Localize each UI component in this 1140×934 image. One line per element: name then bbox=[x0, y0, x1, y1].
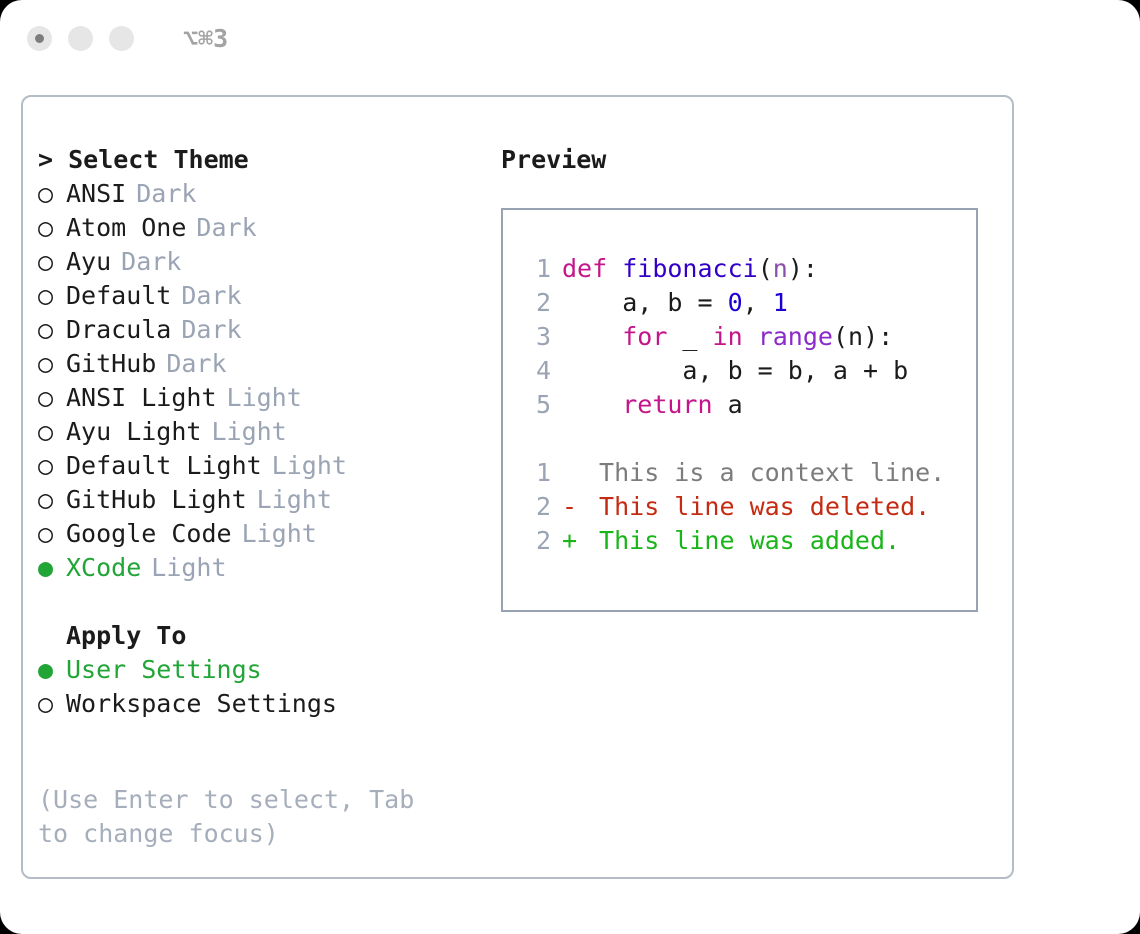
theme-kind-badge: Dark bbox=[181, 313, 241, 347]
theme-option-google-code[interactable]: ○Google CodeLight bbox=[38, 517, 498, 551]
radio-unselected-icon: ○ bbox=[38, 381, 66, 415]
panel-body: > Select Theme ○ANSIDark○Atom OneDark○Ay… bbox=[23, 97, 1012, 877]
theme-option-xcode[interactable]: ●XCodeLight bbox=[38, 551, 498, 585]
diff-line-text: This is a context line. bbox=[562, 456, 945, 490]
apply-option-label: Workspace Settings bbox=[66, 687, 337, 721]
code-token-plain: , bbox=[743, 288, 773, 317]
code-line-number: 3 bbox=[521, 320, 551, 354]
code-token-plain: a bbox=[713, 390, 743, 419]
theme-picker-column: > Select Theme ○ANSIDark○Atom OneDark○Ay… bbox=[38, 143, 498, 851]
radio-unselected-icon: ○ bbox=[38, 211, 66, 245]
theme-option-github-light[interactable]: ○GitHub LightLight bbox=[38, 483, 498, 517]
preview-box: 1def fibonacci(n):2 a, b = 0, 13 for _ i… bbox=[501, 208, 978, 612]
diff-line-number: 1 bbox=[521, 456, 551, 490]
code-line-text: def fibonacci(n): bbox=[562, 252, 818, 286]
diff-line-added: 2+ This line was added. bbox=[521, 524, 976, 558]
code-token-builtin: range bbox=[758, 322, 833, 351]
theme-option-label: Google Code bbox=[66, 517, 232, 551]
theme-option-label: GitHub Light bbox=[66, 483, 247, 517]
radio-unselected-icon: ○ bbox=[38, 313, 66, 347]
radio-unselected-icon: ○ bbox=[38, 177, 66, 211]
code-line-text: a, b = 0, 1 bbox=[562, 286, 788, 320]
diff-sign: - bbox=[562, 490, 584, 524]
diff-line-deleted: 2- This line was deleted. bbox=[521, 490, 976, 524]
theme-option-default-light[interactable]: ○Default LightLight bbox=[38, 449, 498, 483]
diff-line-number: 2 bbox=[521, 490, 551, 524]
code-token-plain: ( bbox=[758, 254, 773, 283]
theme-option-github[interactable]: ○GitHubDark bbox=[38, 347, 498, 381]
app-window: ⌥⌘3 > Select Theme ○ANSIDark○Atom OneDar… bbox=[0, 0, 1140, 934]
radio-unselected-icon: ○ bbox=[38, 347, 66, 381]
window-button-minimize[interactable] bbox=[68, 26, 93, 51]
theme-kind-badge: Light bbox=[227, 381, 302, 415]
code-token-plain: a, b = b, a + b bbox=[562, 356, 908, 385]
code-line: 5 return a bbox=[521, 388, 976, 422]
radio-selected-icon: ● bbox=[38, 653, 66, 687]
keyboard-shortcut-label: ⌥⌘3 bbox=[183, 24, 228, 53]
theme-option-ayu-light[interactable]: ○Ayu LightLight bbox=[38, 415, 498, 449]
code-line: 3 for _ in range(n): bbox=[521, 320, 976, 354]
theme-kind-badge: Dark bbox=[181, 279, 241, 313]
code-token-kw: in bbox=[713, 322, 743, 351]
theme-option-atom-one[interactable]: ○Atom OneDark bbox=[38, 211, 498, 245]
title-bar: ⌥⌘3 bbox=[0, 0, 1140, 76]
code-line-text: return a bbox=[562, 388, 743, 422]
keyboard-hint-text: (Use Enter to select, Tab to change focu… bbox=[38, 783, 458, 851]
apply-option-label: User Settings bbox=[66, 653, 262, 687]
radio-unselected-icon: ○ bbox=[38, 517, 66, 551]
apply-option-user-settings[interactable]: ●User Settings bbox=[38, 653, 498, 687]
theme-kind-badge: Light bbox=[272, 449, 347, 483]
theme-option-ansi-light[interactable]: ○ANSI LightLight bbox=[38, 381, 498, 415]
theme-kind-badge: Dark bbox=[136, 177, 196, 211]
theme-option-label: Atom One bbox=[66, 211, 186, 245]
theme-option-ansi[interactable]: ○ANSIDark bbox=[38, 177, 498, 211]
code-line: 4 a, b = b, a + b bbox=[521, 354, 976, 388]
theme-option-label: Default bbox=[66, 279, 171, 313]
code-line-number: 5 bbox=[521, 388, 551, 422]
theme-kind-badge: Dark bbox=[196, 211, 256, 245]
diff-line-text: - This line was deleted. bbox=[562, 490, 930, 524]
theme-option-label: Default Light bbox=[66, 449, 262, 483]
radio-unselected-icon: ○ bbox=[38, 687, 66, 721]
code-token-kw: return bbox=[622, 390, 712, 419]
theme-option-label: Ayu bbox=[66, 245, 111, 279]
apply-to-section: Apply To ●User Settings○Workspace Settin… bbox=[38, 619, 498, 721]
theme-option-label: Dracula bbox=[66, 313, 171, 347]
preview-column: Preview 1def fibonacci(n):2 a, b = 0, 13… bbox=[501, 143, 1001, 612]
radio-unselected-icon: ○ bbox=[38, 449, 66, 483]
code-token-fn: fibonacci bbox=[622, 254, 757, 283]
code-sample: 1def fibonacci(n):2 a, b = 0, 13 for _ i… bbox=[521, 252, 976, 422]
preview-title: Preview bbox=[501, 143, 1001, 177]
code-token-plain bbox=[743, 322, 758, 351]
apply-to-list[interactable]: ●User Settings○Workspace Settings bbox=[38, 653, 498, 721]
theme-kind-badge: Light bbox=[211, 415, 286, 449]
code-token-plain: a, b = bbox=[562, 288, 728, 317]
diff-sample: 1 This is a context line.2- This line wa… bbox=[521, 456, 976, 558]
select-theme-header: > Select Theme bbox=[38, 143, 498, 177]
code-token-plain: ): bbox=[788, 254, 818, 283]
diff-line-text: + This line was added. bbox=[562, 524, 900, 558]
main-panel: > Select Theme ○ANSIDark○Atom OneDark○Ay… bbox=[21, 95, 1014, 879]
code-token-num: 1 bbox=[773, 288, 788, 317]
diff-line-context: 1 This is a context line. bbox=[521, 456, 976, 490]
theme-kind-badge: Light bbox=[242, 517, 317, 551]
theme-kind-badge: Light bbox=[257, 483, 332, 517]
theme-kind-badge: Dark bbox=[166, 347, 226, 381]
window-button-zoom[interactable] bbox=[109, 26, 134, 51]
code-line-number: 2 bbox=[521, 286, 551, 320]
theme-option-dracula[interactable]: ○DraculaDark bbox=[38, 313, 498, 347]
close-dot-icon bbox=[35, 34, 44, 43]
diff-sign bbox=[562, 456, 584, 490]
code-line-number: 1 bbox=[521, 252, 551, 286]
theme-option-label: GitHub bbox=[66, 347, 156, 381]
code-token-kw: for bbox=[622, 322, 667, 351]
code-token-plain bbox=[562, 390, 622, 419]
apply-option-workspace-settings[interactable]: ○Workspace Settings bbox=[38, 687, 498, 721]
code-line-text: for _ in range(n): bbox=[562, 320, 893, 354]
theme-option-label: ANSI Light bbox=[66, 381, 217, 415]
radio-selected-icon: ● bbox=[38, 551, 66, 585]
theme-option-label: ANSI bbox=[66, 177, 126, 211]
theme-option-default[interactable]: ○DefaultDark bbox=[38, 279, 498, 313]
diff-sign: + bbox=[562, 524, 584, 558]
radio-unselected-icon: ○ bbox=[38, 483, 66, 517]
theme-kind-badge: Dark bbox=[121, 245, 181, 279]
code-token-kw: def bbox=[562, 254, 622, 283]
code-token-num: 0 bbox=[728, 288, 743, 317]
code-line: 2 a, b = 0, 1 bbox=[521, 286, 976, 320]
code-line-number: 4 bbox=[521, 354, 551, 388]
theme-option-ayu[interactable]: ○AyuDark bbox=[38, 245, 498, 279]
preview-spacer bbox=[521, 422, 976, 456]
code-token-param: n bbox=[773, 254, 788, 283]
radio-unselected-icon: ○ bbox=[38, 245, 66, 279]
theme-kind-badge: Light bbox=[151, 551, 226, 585]
window-button-close[interactable] bbox=[27, 26, 52, 51]
code-token-plain: _ bbox=[667, 322, 712, 351]
radio-unselected-icon: ○ bbox=[38, 415, 66, 449]
theme-list[interactable]: ○ANSIDark○Atom OneDark○AyuDark○DefaultDa… bbox=[38, 177, 498, 585]
radio-unselected-icon: ○ bbox=[38, 279, 66, 313]
code-line-text: a, b = b, a + b bbox=[562, 354, 908, 388]
code-token-plain bbox=[562, 322, 622, 351]
theme-option-label: Ayu Light bbox=[66, 415, 201, 449]
apply-to-header: Apply To bbox=[38, 619, 498, 653]
code-token-plain: (n): bbox=[833, 322, 893, 351]
diff-line-number: 2 bbox=[521, 524, 551, 558]
code-line: 1def fibonacci(n): bbox=[521, 252, 976, 286]
theme-option-label: XCode bbox=[66, 551, 141, 585]
